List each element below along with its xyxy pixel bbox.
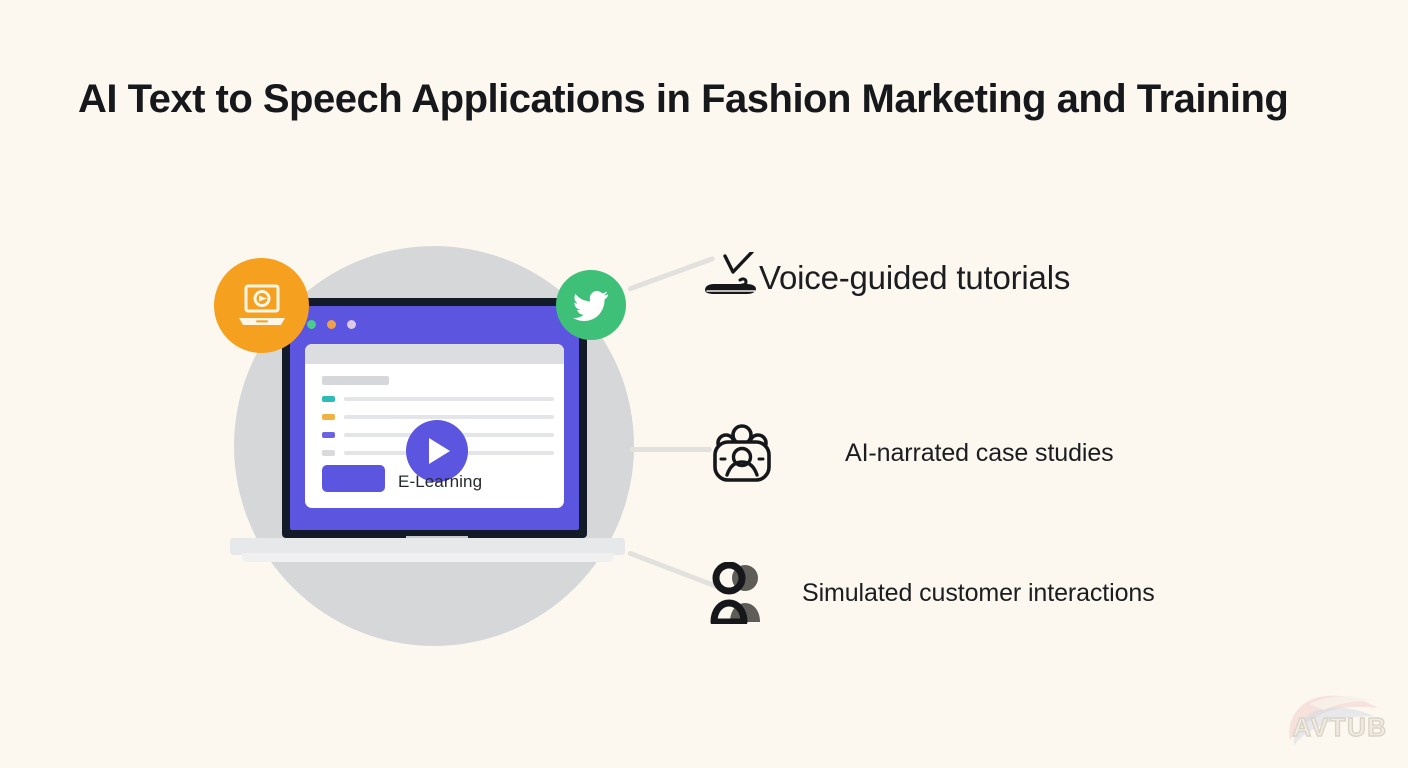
card-header-bar bbox=[305, 344, 564, 364]
screen-label: E-Learning bbox=[398, 472, 482, 492]
feature-label: AI-narrated case studies bbox=[845, 439, 1114, 468]
feature-label: Voice-guided tutorials bbox=[759, 259, 1070, 297]
watermark-logo: AVTUB bbox=[1280, 682, 1400, 762]
badge-social-bird[interactable] bbox=[556, 270, 626, 340]
window-dot-orange bbox=[327, 320, 336, 329]
laptop-bezel: E-Learning bbox=[282, 298, 587, 538]
window-dots bbox=[307, 320, 356, 329]
row-line bbox=[344, 415, 554, 419]
screen-cta-button[interactable] bbox=[322, 465, 385, 492]
feature-item-voice-guided-tutorials[interactable]: Voice-guided tutorials bbox=[703, 252, 1070, 304]
connector-line-2 bbox=[630, 447, 712, 452]
row-marker-gray bbox=[322, 450, 335, 456]
screen-content-card: E-Learning bbox=[305, 344, 564, 508]
hand-checkmark-approval-icon bbox=[703, 252, 763, 304]
feature-label: Simulated customer interactions bbox=[802, 579, 1155, 608]
laptop-base-lip bbox=[242, 553, 614, 562]
row-marker-purple bbox=[322, 432, 335, 438]
window-dot-pink bbox=[347, 320, 356, 329]
group-cloud-people-icon bbox=[711, 423, 773, 483]
laptop-screen: E-Learning bbox=[290, 306, 579, 530]
card-row bbox=[322, 396, 554, 402]
badge-laptop-media[interactable] bbox=[214, 258, 309, 353]
two-people-icon bbox=[710, 562, 770, 624]
row-marker-orange bbox=[322, 414, 335, 420]
laptop-media-icon bbox=[235, 282, 289, 330]
window-dot-green bbox=[307, 320, 316, 329]
feature-item-ai-narrated-case-studies[interactable]: AI-narrated case studies bbox=[711, 423, 1114, 483]
row-line bbox=[344, 397, 554, 401]
card-heading-placeholder bbox=[322, 376, 389, 385]
play-triangle-icon bbox=[429, 438, 450, 464]
bird-icon bbox=[572, 289, 610, 321]
watermark-text: AVTUB bbox=[1280, 712, 1400, 743]
page-title: AI Text to Speech Applications in Fashio… bbox=[78, 76, 1358, 122]
feature-item-simulated-customer-interactions[interactable]: Simulated customer interactions bbox=[710, 562, 1155, 624]
row-marker-teal bbox=[322, 396, 335, 402]
e-learning-laptop-illustration: E-Learning bbox=[212, 236, 642, 646]
infographic-canvas: AI Text to Speech Applications in Fashio… bbox=[0, 0, 1408, 768]
